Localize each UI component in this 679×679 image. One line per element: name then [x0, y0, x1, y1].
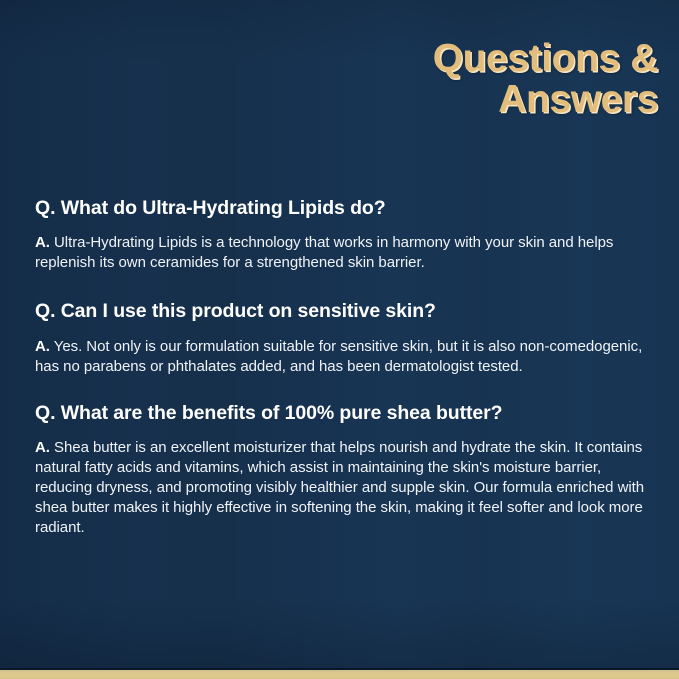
faq-answer-text: Yes. Not only is our formulation suitabl…	[35, 338, 642, 375]
faq-answer: A. Yes. Not only is our formulation suit…	[35, 337, 647, 377]
faq-list: Q. What do Ultra-Hydrating Lipids do? A.…	[35, 196, 647, 538]
faq-answer-text: Ultra-Hydrating Lipids is a technology t…	[35, 234, 613, 271]
faq-item: Q. Can I use this product on sensitive s…	[35, 299, 647, 376]
faq-question: Q. Can I use this product on sensitive s…	[35, 299, 647, 323]
faq-answer-prefix: A.	[35, 234, 50, 251]
page-title-line-2: Answers	[433, 79, 658, 120]
faq-item: Q. What are the benefits of 100% pure sh…	[35, 401, 647, 538]
footer-accent-bar	[0, 670, 679, 679]
faq-answer-prefix: A.	[35, 439, 50, 456]
faq-item: Q. What do Ultra-Hydrating Lipids do? A.…	[35, 196, 647, 273]
faq-answer: A. Ultra-Hydrating Lipids is a technolog…	[35, 233, 647, 273]
faq-question: Q. What are the benefits of 100% pure sh…	[35, 401, 647, 425]
faq-answer: A. Shea butter is an excellent moisturiz…	[35, 438, 647, 538]
faq-answer-text: Shea butter is an excellent moisturizer …	[35, 439, 644, 536]
faq-question: Q. What do Ultra-Hydrating Lipids do?	[35, 196, 647, 220]
faq-card: Questions & Answers Q. What do Ultra-Hyd…	[0, 0, 679, 679]
page-title-line-1: Questions &	[433, 38, 658, 79]
faq-answer-prefix: A.	[35, 338, 50, 355]
page-title: Questions & Answers	[433, 38, 658, 121]
